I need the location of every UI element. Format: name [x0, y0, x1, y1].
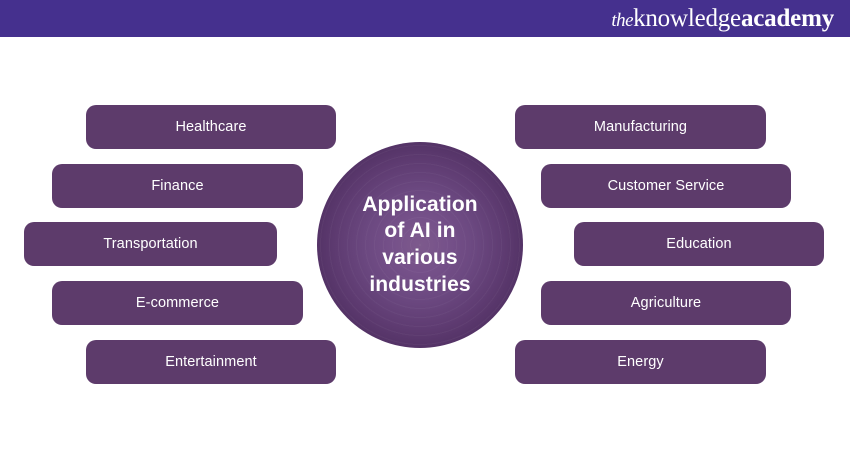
industry-pill-label: Customer Service [608, 178, 725, 194]
industry-pill-label: Healthcare [175, 119, 246, 135]
diagram-stage: Healthcare Finance Transportation E-comm… [0, 37, 850, 450]
industry-pill-agriculture[interactable]: Agriculture [541, 281, 791, 325]
industry-pill-label: Finance [151, 178, 203, 194]
industry-pill-manufacturing[interactable]: Manufacturing [515, 105, 766, 149]
industry-pill-energy[interactable]: Energy [515, 340, 766, 384]
industry-pill-education[interactable]: Education [574, 222, 824, 266]
industry-pill-healthcare[interactable]: Healthcare [86, 105, 336, 149]
brand-logo-academy: academy [741, 5, 834, 32]
industry-pill-label: Manufacturing [594, 119, 687, 135]
industry-pill-customer-service[interactable]: Customer Service [541, 164, 791, 208]
center-hub-circle: Application of AI in various industries [317, 142, 523, 348]
brand-logo-the: the [611, 10, 633, 31]
header-bar: theknowledgeacademy [0, 0, 850, 37]
brand-logo: theknowledgeacademy [611, 6, 834, 31]
industry-pill-finance[interactable]: Finance [52, 164, 303, 208]
industry-pill-label: Education [666, 236, 731, 252]
industry-pill-label: Energy [617, 354, 664, 370]
industry-pill-label: E-commerce [136, 295, 219, 311]
brand-logo-knowledge: knowledge [633, 5, 741, 32]
industry-pill-e-commerce[interactable]: E-commerce [52, 281, 303, 325]
industry-pill-label: Entertainment [165, 354, 257, 370]
industry-pill-transportation[interactable]: Transportation [24, 222, 277, 266]
industry-pill-label: Agriculture [631, 295, 701, 311]
industry-pill-entertainment[interactable]: Entertainment [86, 340, 336, 384]
center-hub-label: Application of AI in various industries [348, 192, 491, 299]
industry-pill-label: Transportation [103, 236, 197, 252]
